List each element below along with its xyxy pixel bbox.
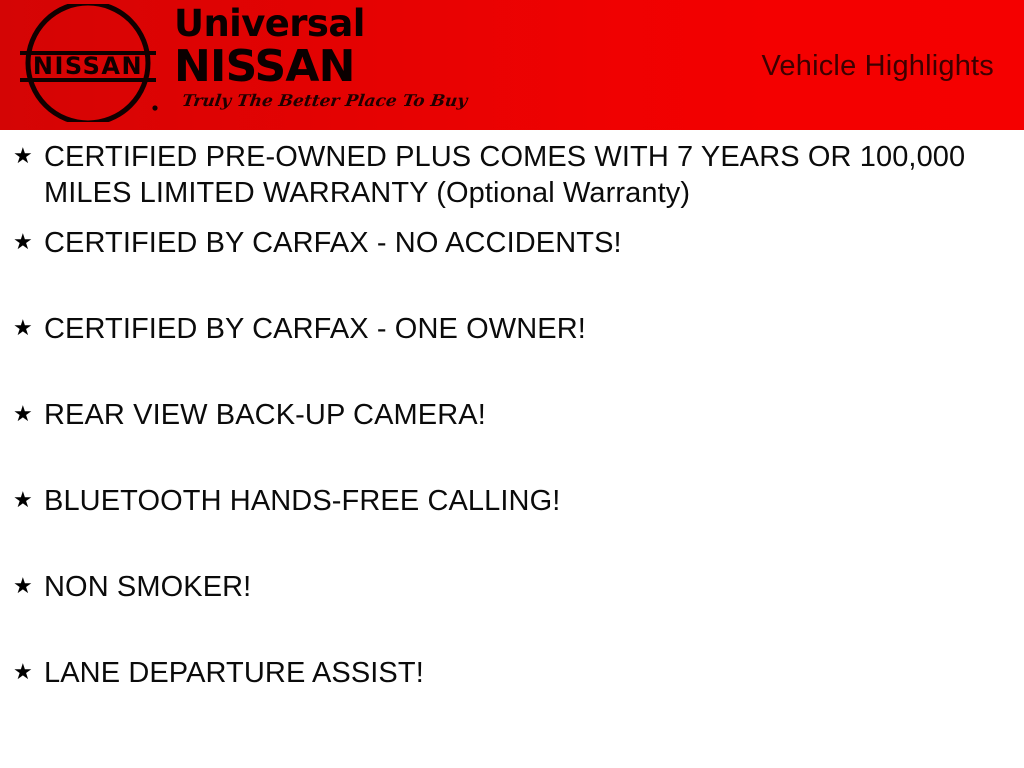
star-icon: ★ [13, 560, 44, 604]
wordmark-universal: Universal [174, 4, 424, 44]
highlight-text: CERTIFIED PRE-OWNED PLUS COMES WITH 7 YE… [44, 130, 1004, 211]
list-item: ★ BLUETOOTH HANDS-FREE CALLING! [0, 474, 1024, 560]
dealer-logo[interactable]: NISSAN Universal NISSAN Truly The Better… [14, 0, 424, 130]
list-item: ★ REAR VIEW BACK-UP CAMERA! [0, 388, 1024, 474]
wordmark-nissan: NISSAN [174, 44, 424, 90]
dealer-tagline: Truly The Better Place To Buy [181, 92, 426, 111]
star-icon: ★ [13, 130, 44, 174]
list-item: ★ CERTIFIED PRE-OWNED PLUS COMES WITH 7 … [0, 130, 1024, 216]
list-item: ★ NON SMOKER! [0, 560, 1024, 646]
highlight-text: CERTIFIED BY CARFAX - NO ACCIDENTS! [44, 216, 1004, 261]
list-item: ★ CERTIFIED BY CARFAX - NO ACCIDENTS! [0, 216, 1024, 302]
highlight-text: REAR VIEW BACK-UP CAMERA! [44, 388, 1004, 433]
star-icon: ★ [13, 388, 44, 432]
highlight-text: NON SMOKER! [44, 560, 1004, 605]
nissan-emblem-icon: NISSAN [14, 4, 162, 122]
star-icon: ★ [13, 646, 44, 690]
svg-text:NISSAN: NISSAN [33, 52, 143, 80]
highlight-text: CERTIFIED BY CARFAX - ONE OWNER! [44, 302, 1004, 347]
dealer-wordmark: Universal NISSAN Truly The Better Place … [174, 4, 424, 111]
star-icon: ★ [13, 216, 44, 260]
highlight-text: LANE DEPARTURE ASSIST! [44, 646, 1004, 691]
vehicle-highlights-list: ★ CERTIFIED PRE-OWNED PLUS COMES WITH 7 … [0, 130, 1024, 732]
page-title: Vehicle Highlights [761, 50, 994, 83]
list-item: ★ CERTIFIED BY CARFAX - ONE OWNER! [0, 302, 1024, 388]
list-item: ★ LANE DEPARTURE ASSIST! [0, 646, 1024, 732]
highlight-text: BLUETOOTH HANDS-FREE CALLING! [44, 474, 1004, 519]
dealer-header-banner: NISSAN Universal NISSAN Truly The Better… [0, 0, 1024, 130]
star-icon: ★ [13, 474, 44, 518]
vehicle-highlights-page: NISSAN Universal NISSAN Truly The Better… [0, 0, 1024, 768]
star-icon: ★ [13, 302, 44, 346]
